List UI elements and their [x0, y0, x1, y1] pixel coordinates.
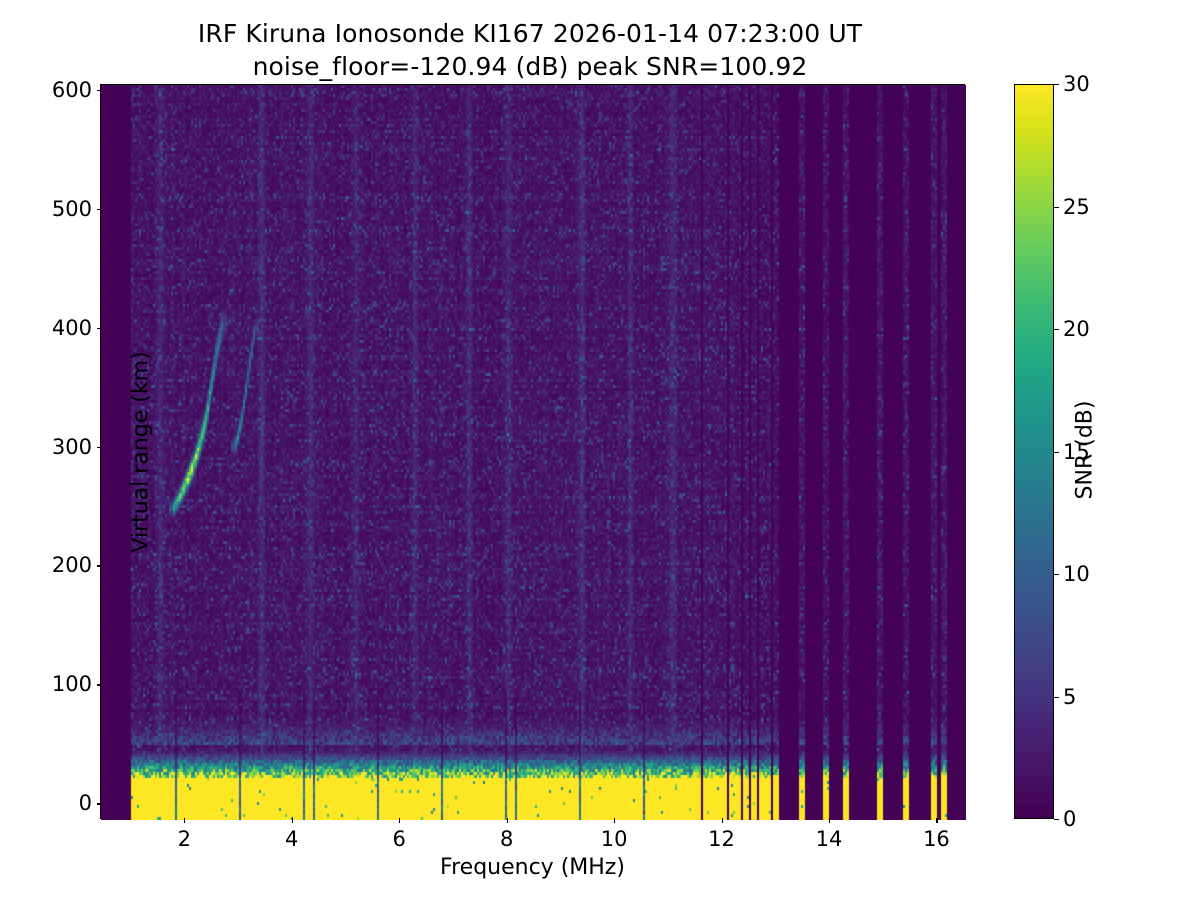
- ionogram-figure: IRF Kiruna Ionosonde KI167 2026-01-14 07…: [0, 0, 1200, 900]
- y-tick-mark: [97, 90, 102, 91]
- colorbar-tick-mark: [1054, 819, 1059, 820]
- title-line-1: IRF Kiruna Ionosonde KI167 2026-01-14 07…: [0, 18, 1060, 51]
- y-tick-label: 0: [79, 791, 92, 815]
- colorbar-canvas: [1015, 85, 1053, 818]
- x-tick-label: 16: [923, 827, 950, 851]
- colorbar-tick-label: 30: [1063, 72, 1090, 96]
- y-tick-mark: [97, 447, 102, 448]
- colorbar-label: SNR (dB): [1073, 240, 1098, 660]
- y-tick-label: 100: [52, 672, 92, 696]
- ionogram-heatmap: [101, 85, 966, 820]
- ionogram-plot-area[interactable]: Virtual range (km) 010020030040050060024…: [100, 84, 965, 819]
- x-tick-label: 12: [708, 827, 735, 851]
- y-tick-label: 300: [52, 435, 92, 459]
- colorbar-tick-mark: [1054, 329, 1059, 330]
- y-tick-label: 600: [52, 78, 92, 102]
- colorbar-tick-mark: [1054, 452, 1059, 453]
- colorbar: 051015202530: [1014, 84, 1054, 819]
- y-tick-mark: [97, 328, 102, 329]
- colorbar-tick-label: 0: [1063, 807, 1076, 831]
- x-tick-label: 8: [500, 827, 513, 851]
- x-tick-label: 10: [601, 827, 628, 851]
- x-tick-mark: [184, 818, 185, 823]
- x-tick-mark: [507, 818, 508, 823]
- x-axis-label: Frequency (MHz): [100, 855, 965, 880]
- x-tick-mark: [829, 818, 830, 823]
- x-tick-mark: [936, 818, 937, 823]
- colorbar-tick-mark: [1054, 697, 1059, 698]
- colorbar-tick-label: 5: [1063, 685, 1076, 709]
- x-tick-mark: [399, 818, 400, 823]
- x-tick-label: 14: [816, 827, 843, 851]
- y-tick-mark: [97, 565, 102, 566]
- y-tick-label: 400: [52, 316, 92, 340]
- x-tick-label: 6: [392, 827, 405, 851]
- colorbar-tick-mark: [1054, 207, 1059, 208]
- x-tick-mark: [614, 818, 615, 823]
- colorbar-gradient: [1014, 84, 1054, 819]
- x-tick-label: 2: [178, 827, 191, 851]
- x-tick-mark: [292, 818, 293, 823]
- x-tick-mark: [722, 818, 723, 823]
- colorbar-tick-mark: [1054, 574, 1059, 575]
- colorbar-tick-label: 25: [1063, 195, 1090, 219]
- y-tick-mark: [97, 684, 102, 685]
- title-line-2: noise_floor=-120.94 (dB) peak SNR=100.92: [0, 51, 1060, 84]
- colorbar-tick-mark: [1054, 84, 1059, 85]
- y-tick-mark: [97, 209, 102, 210]
- y-tick-label: 200: [52, 553, 92, 577]
- figure-title: IRF Kiruna Ionosonde KI167 2026-01-14 07…: [0, 18, 1060, 83]
- x-tick-label: 4: [285, 827, 298, 851]
- y-axis-label: Virtual range (km): [129, 242, 154, 662]
- y-tick-mark: [97, 803, 102, 804]
- y-tick-label: 500: [52, 197, 92, 221]
